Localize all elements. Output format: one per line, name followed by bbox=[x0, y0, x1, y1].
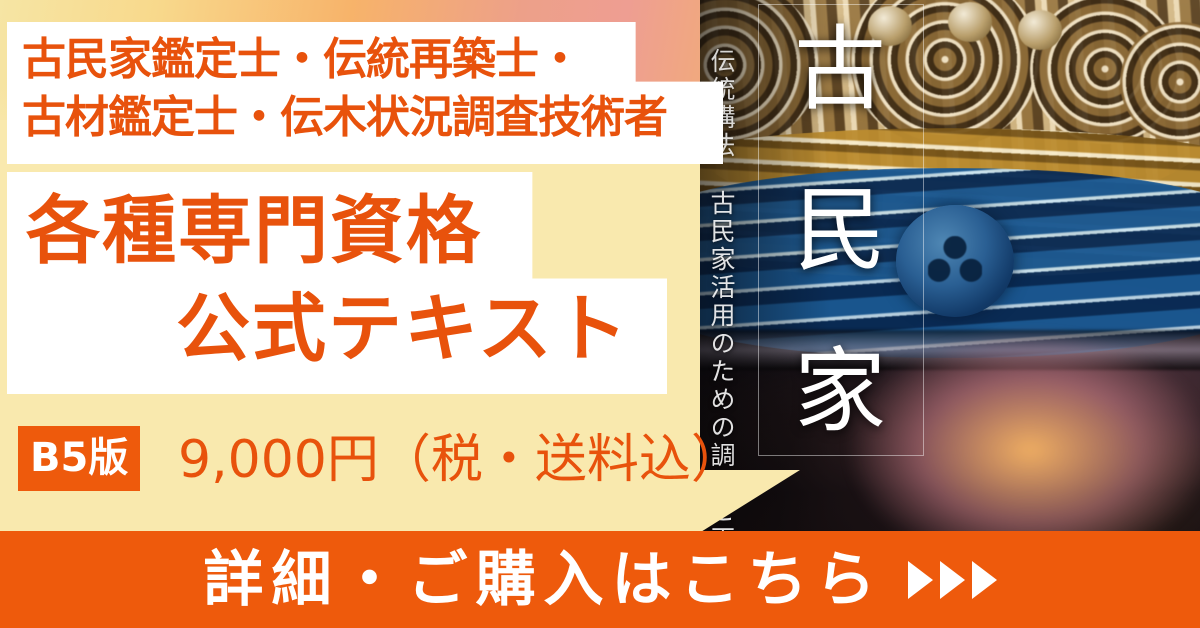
triangle-right-icon bbox=[908, 561, 933, 599]
qualifications-line-1: 古民家鑑定士・伝統再築士・ bbox=[22, 38, 581, 82]
headline-line-2: 公式テキスト bbox=[176, 292, 630, 366]
cta-arrows bbox=[908, 561, 997, 599]
cta-button[interactable]: 詳細・ご購入はこちら bbox=[0, 531, 1200, 628]
cover-title-char-2: 民 bbox=[794, 185, 886, 277]
cover-title-char-1: 古 bbox=[794, 24, 886, 116]
cta-inner: 詳細・ご購入はこちら bbox=[204, 550, 997, 610]
promo-banner: 古 民 家 伝統構法 古民家活用のための調査と再生の 古民家鑑定士・伝統再築士・… bbox=[0, 0, 1200, 628]
triangle-right-icon bbox=[940, 561, 965, 599]
qualifications-line-2: 古材鑑定士・伝木状況調査技術者 bbox=[22, 96, 667, 140]
format-badge: B5版 bbox=[18, 426, 140, 491]
cta-label: 詳細・ご購入はこちら bbox=[204, 550, 884, 610]
triangle-right-icon bbox=[972, 561, 997, 599]
cover-title: 古 民 家 bbox=[758, 10, 922, 460]
price-text: 9,000円（税・送料込） bbox=[178, 434, 743, 486]
headline-line-1: 各種専門資格 bbox=[26, 194, 482, 268]
cover-title-char-3: 家 bbox=[794, 346, 886, 438]
